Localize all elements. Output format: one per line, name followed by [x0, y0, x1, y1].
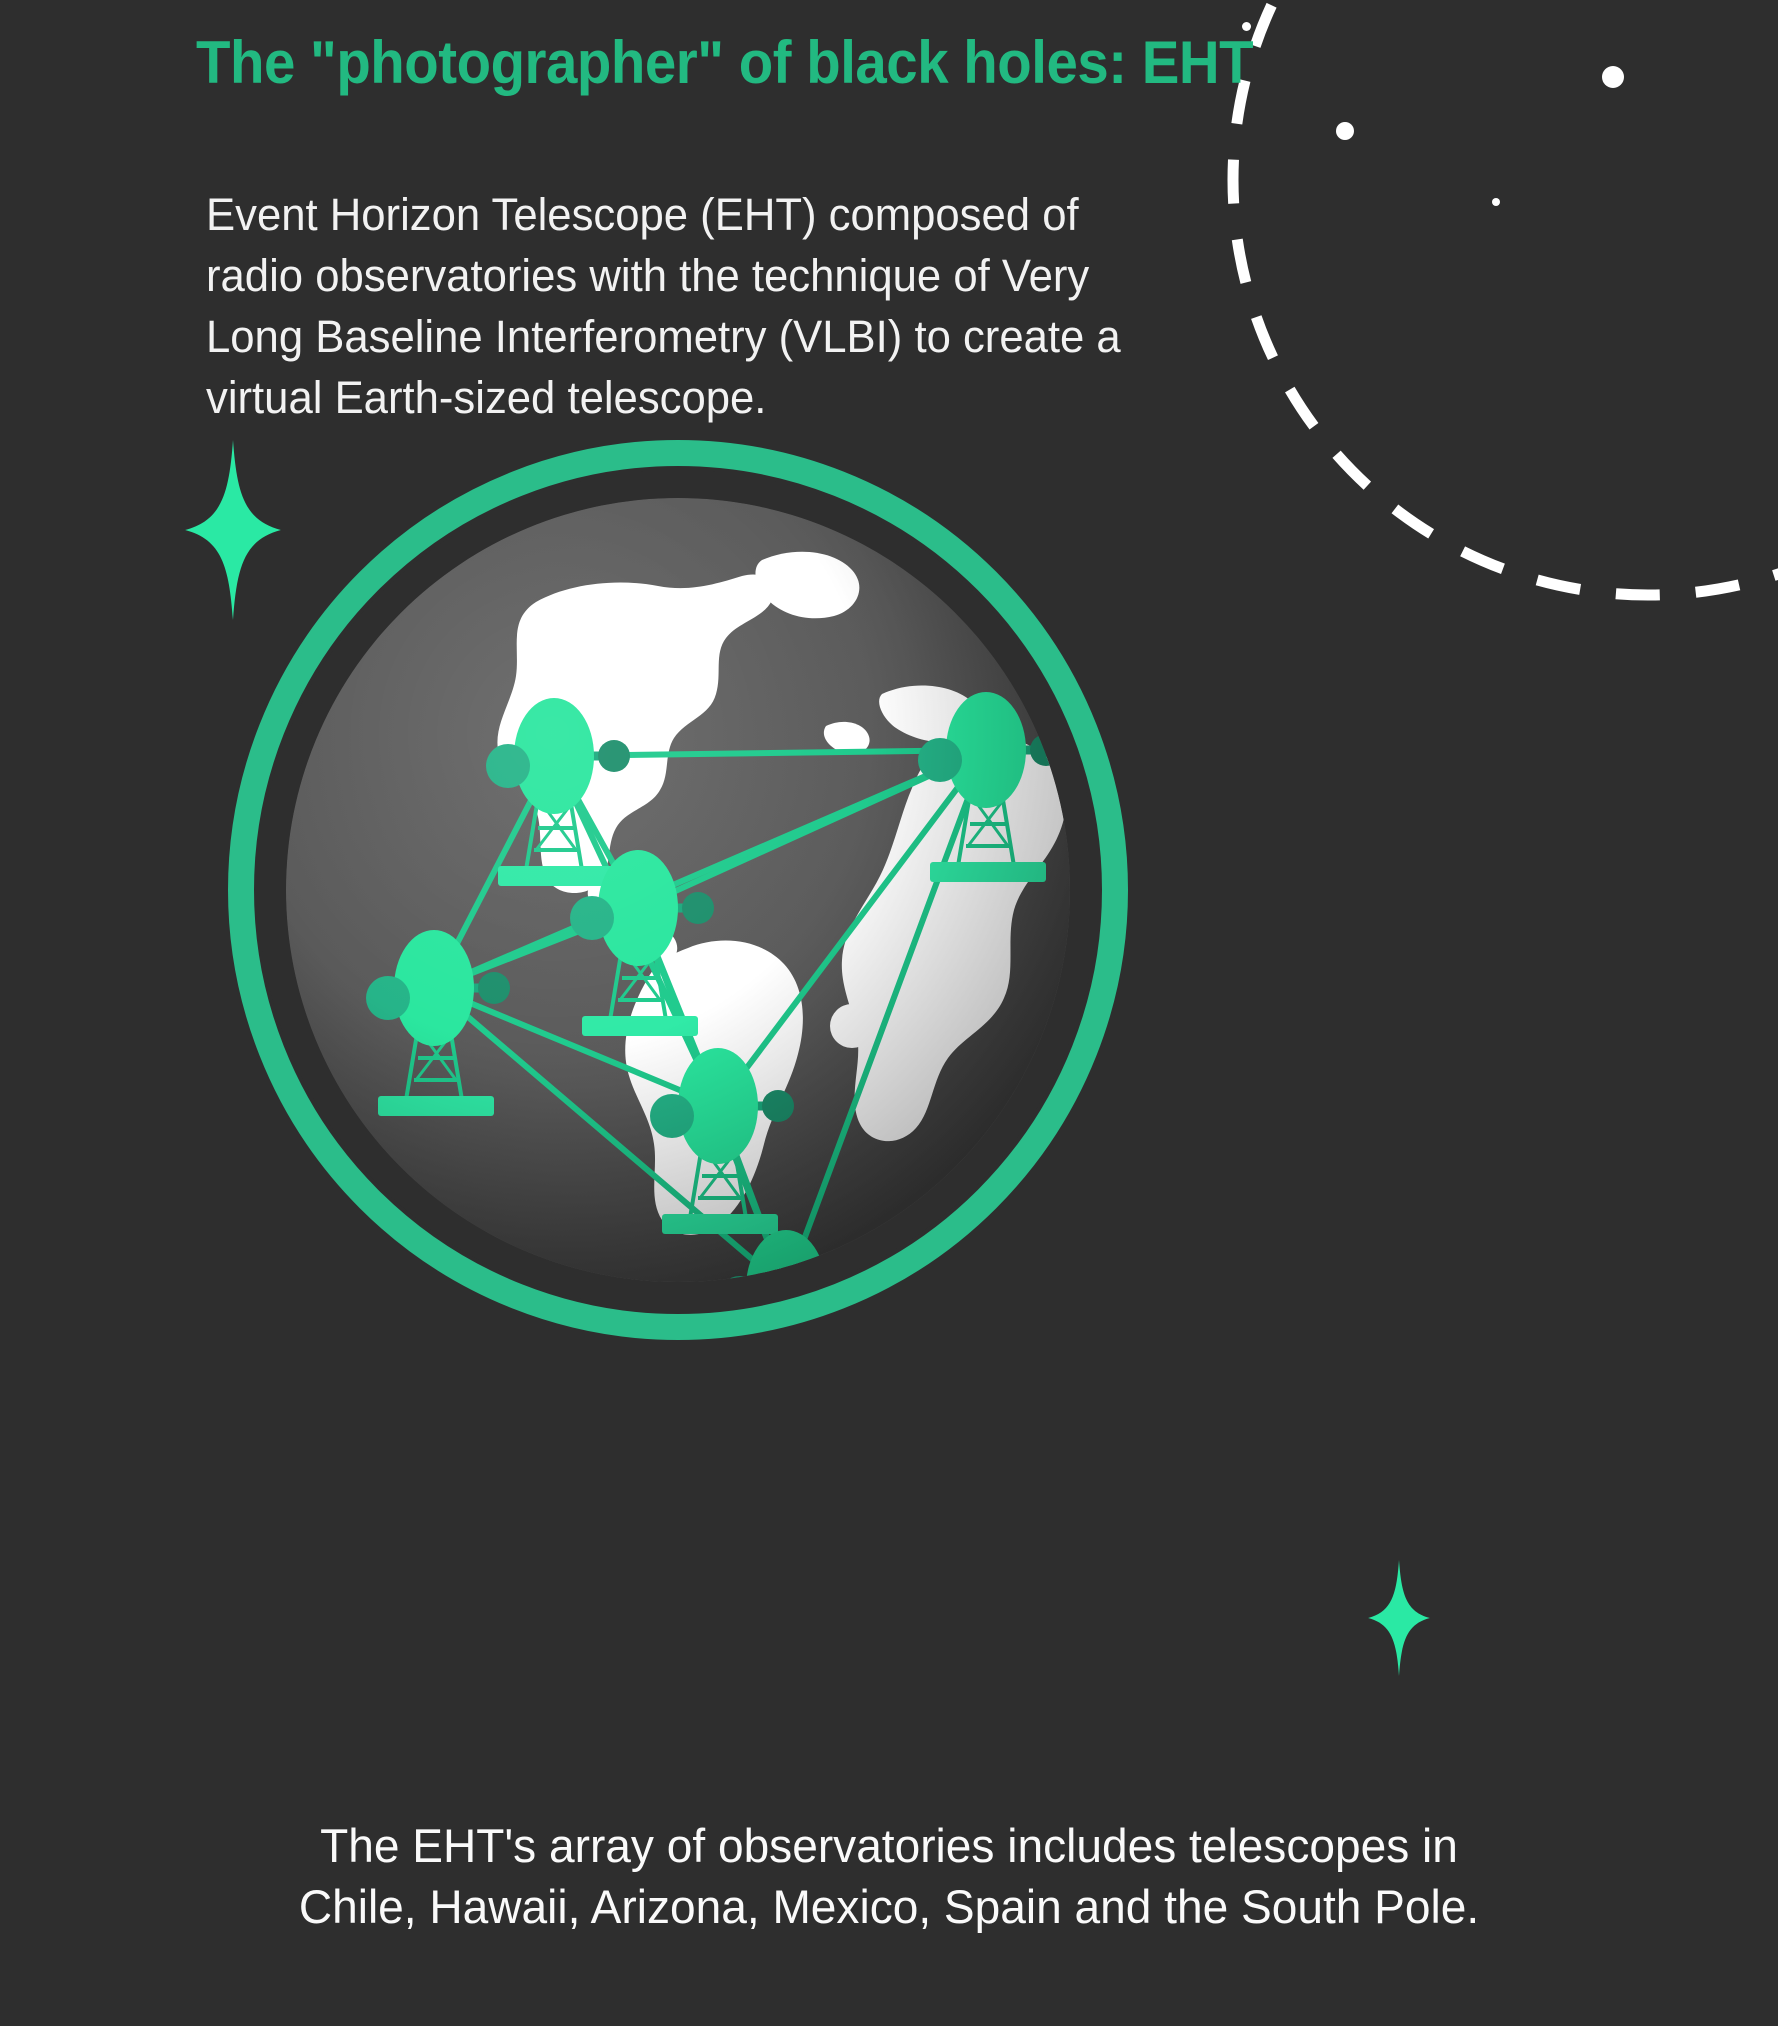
- decor-dot-3: [1602, 66, 1624, 88]
- illustration-caption: The EHT's array of observatories include…: [0, 1815, 1778, 1937]
- page-title: The "photographer" of black holes: EHT: [196, 28, 1253, 97]
- decor-dot-2: [1336, 122, 1354, 140]
- eht-globe-network: [228, 440, 1128, 1340]
- intro-paragraph: Event Horizon Telescope (EHT) composed o…: [206, 185, 1186, 429]
- landmass-island-speck: [979, 1171, 993, 1185]
- globe-map-and-network: [286, 498, 1070, 1282]
- caption-line-1: The EHT's array of observatories include…: [18, 1815, 1760, 1876]
- globe-body: [286, 498, 1070, 1282]
- decor-dot-4: [1492, 198, 1500, 206]
- dashed-arc-decoration: [1218, 0, 1778, 610]
- infographic-canvas: The "photographer" of black holes: EHT E…: [0, 0, 1778, 2026]
- landmass-island-dot: [830, 1004, 874, 1048]
- caption-line-2: Chile, Hawaii, Arizona, Mexico, Spain an…: [18, 1876, 1760, 1937]
- sparkle-bottom-right: [1368, 1560, 1430, 1676]
